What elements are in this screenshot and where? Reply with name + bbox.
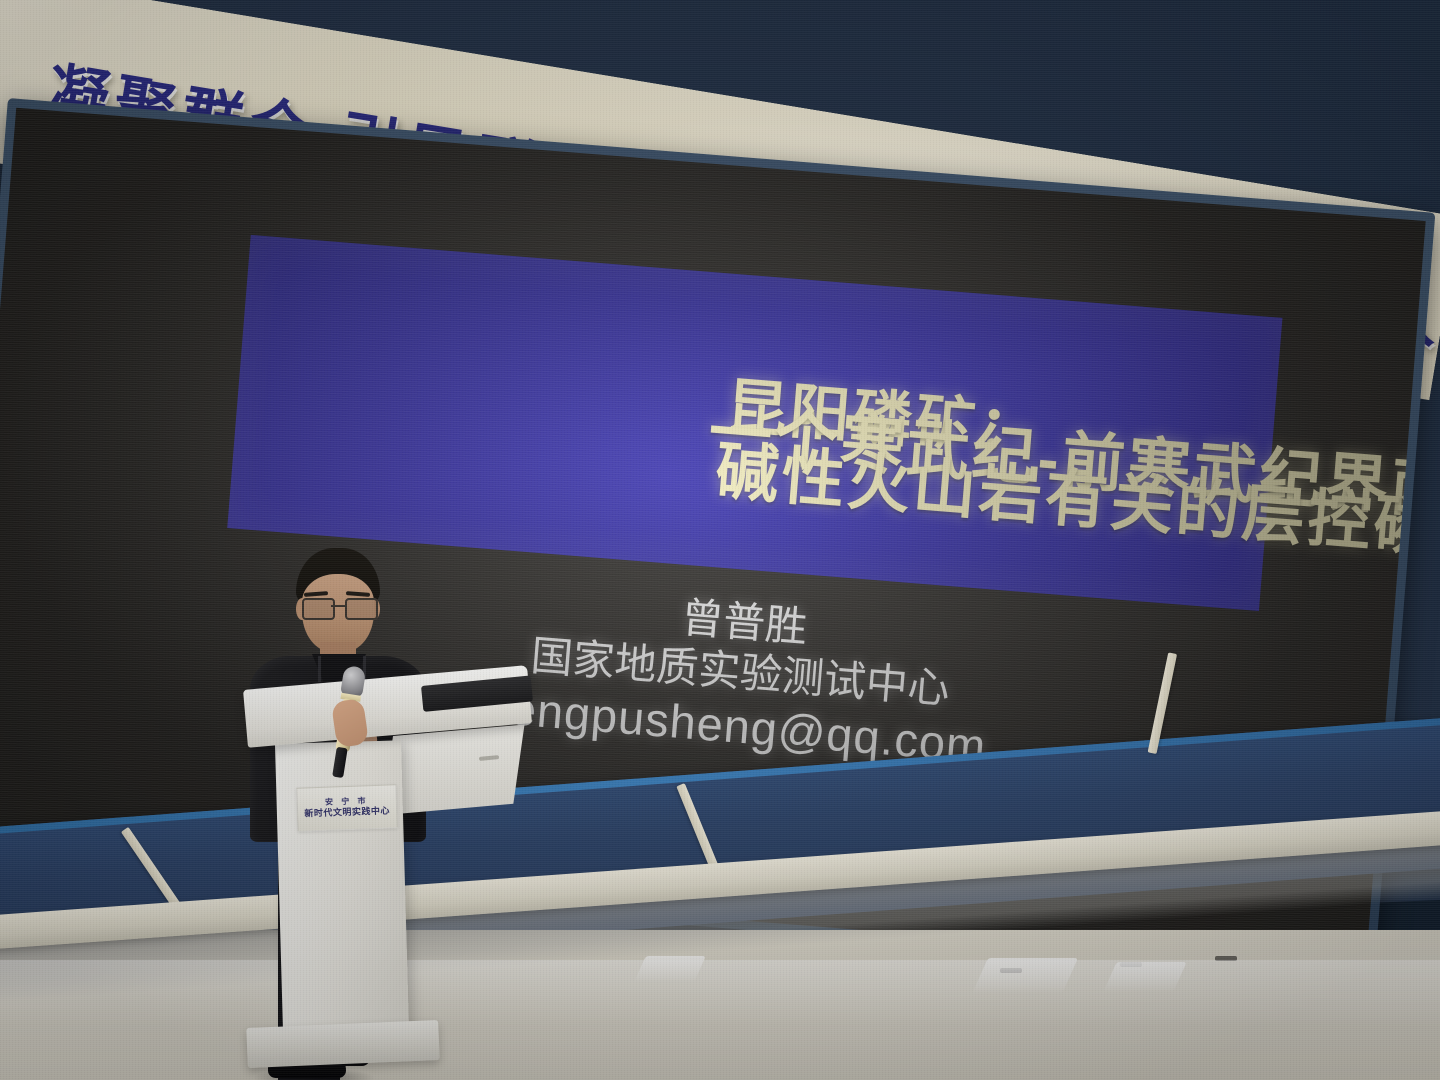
podium-plate-line-2: 新时代文明实践中心 bbox=[304, 806, 390, 820]
podium-name-plate: 安 宁 市 新时代文明实践中心 bbox=[296, 784, 397, 831]
microphone-handle bbox=[332, 747, 348, 778]
conference-photo: 凝聚群众 引导群众 安宁市新时代文明实践中心 以文化人 成风化俗 昆阳磷矿： 一… bbox=[0, 0, 1440, 1080]
floor-reflection-glare bbox=[1103, 962, 1186, 992]
glasses-icon bbox=[302, 598, 375, 617]
podium-side-wing bbox=[382, 724, 525, 815]
glasses-bridge bbox=[331, 605, 346, 607]
podium: 安 宁 市 新时代文明实践中心 bbox=[243, 690, 528, 1080]
slide-title-line-3: 碱性火山岩有关的层控磷矿床 bbox=[716, 436, 788, 474]
floor-reflection-glare bbox=[972, 958, 1078, 994]
glasses-lens bbox=[345, 598, 378, 620]
glasses-lens bbox=[302, 598, 335, 620]
floor-bolt bbox=[1215, 956, 1237, 961]
slide-title-line-1: 昆阳磷矿： bbox=[728, 373, 788, 402]
floor-reflection-glare bbox=[634, 956, 706, 982]
podium-base bbox=[246, 1020, 440, 1068]
